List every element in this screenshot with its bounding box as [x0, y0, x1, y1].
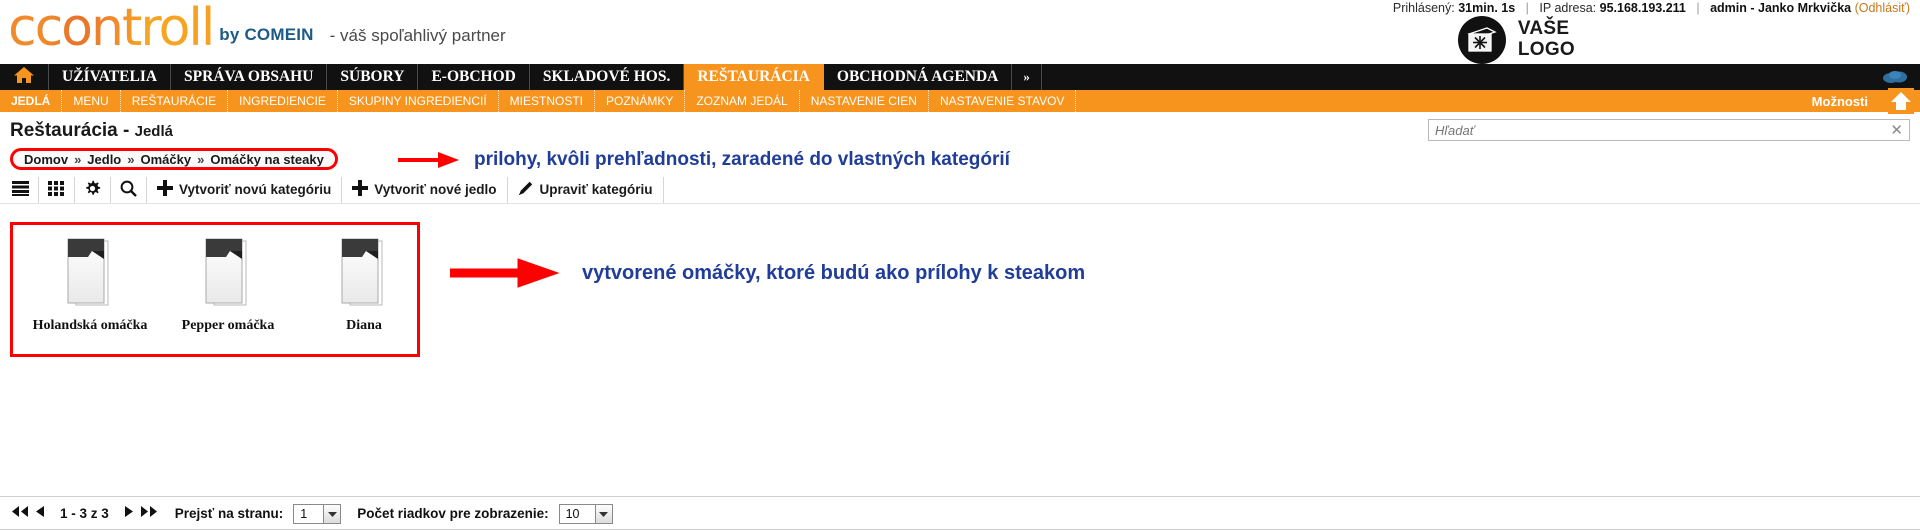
session-logged-label: Prihlásený:	[1393, 1, 1455, 15]
nav-item-skladove-hos[interactable]: SKLADOVÉ HOS.	[530, 64, 684, 90]
page-number-select[interactable]: 1	[293, 504, 341, 524]
annotation-breadcrumb: prilohy, kvôli prehľadnosti, zaradené do…	[398, 149, 1010, 171]
session-info: Prihlásený: 31min. 1s | IP adresa: 95.16…	[1393, 1, 1910, 15]
subnav-item-miestnosti[interactable]: MIESTNOSTI	[499, 90, 595, 112]
search-button[interactable]	[111, 177, 147, 203]
document-icon	[62, 237, 118, 314]
goto-page-label: Prejsť na stranu:	[175, 506, 284, 521]
session-logged-value: 31min. 1s	[1458, 1, 1515, 15]
create-category-button[interactable]: Vytvoriť novú kategóriu	[147, 177, 342, 203]
pagination-controls-right	[123, 504, 159, 524]
list-view-icon	[12, 181, 29, 199]
annotation-breadcrumb-text: prilohy, kvôli prehľadnosti, zaradené do…	[474, 149, 1010, 171]
subnav-item-zoznam-jedal[interactable]: ZOZNAM JEDÁL	[685, 90, 799, 112]
subnav-item-menu[interactable]: MENU	[62, 90, 120, 112]
annotation-files: vytvorené omáčky, ktoré budú ako prílohy…	[450, 256, 1085, 290]
annotation-files-text: vytvorené omáčky, ktoré budú ako prílohy…	[582, 262, 1085, 285]
subnav-item-skupiny-ingrediencii[interactable]: SKUPINY INGREDIENCIÍ	[338, 90, 499, 112]
nav-item-subory[interactable]: SÚBORY	[327, 64, 418, 90]
cloud-icon[interactable]	[1882, 70, 1908, 89]
rows-per-page-value: 10	[566, 507, 580, 521]
brand-logo[interactable]: ccontroll by COMEIN - váš spoľahlivý par…	[8, 2, 506, 54]
breadcrumb-item-omacky[interactable]: Omáčky	[141, 152, 192, 167]
breadcrumb-item-jedlo[interactable]: Jedlo	[87, 152, 121, 167]
search-input[interactable]	[1429, 123, 1884, 138]
pencil-icon	[518, 180, 534, 199]
scroll-to-top-icon[interactable]	[1888, 88, 1914, 114]
content-area: Holandská omáčka Pepper omáčka	[0, 204, 1920, 364]
plus-icon	[157, 180, 173, 199]
arrow-right-icon	[398, 150, 460, 170]
subnav-item-restauracie[interactable]: REŠTAURÁCIE	[121, 90, 228, 112]
sub-navigation: JEDLÁ MENU REŠTAURÁCIE INGREDIENCIE SKUP…	[0, 90, 1920, 112]
close-icon[interactable]: ✕	[1884, 121, 1909, 139]
document-icon	[200, 237, 256, 314]
chevron-down-icon[interactable]	[323, 505, 340, 523]
document-icon	[336, 237, 392, 314]
arrow-right-icon	[450, 256, 560, 290]
chevron-down-icon[interactable]	[595, 505, 612, 523]
session-separator-1: |	[1526, 1, 1529, 15]
list-item[interactable]: Holandská omáčka	[35, 237, 145, 334]
nav-item-obchodna-agenda[interactable]: OBCHODNÁ AGENDA	[824, 64, 1012, 90]
first-page-icon[interactable]	[10, 504, 30, 524]
logout-link[interactable]: (Odhlásiť)	[1855, 1, 1910, 15]
nav-item-e-obchod[interactable]: E-OBCHOD	[418, 64, 529, 90]
main-navigation: UŽÍVATELIA SPRÁVA OBSAHU SÚBORY E-OBCHOD…	[0, 64, 1920, 90]
breadcrumb-item-domov[interactable]: Domov	[24, 152, 68, 167]
create-food-button[interactable]: Vytvoriť nové jedlo	[342, 177, 507, 203]
list-view-button[interactable]	[10, 177, 39, 203]
create-category-label: Vytvoriť novú kategóriu	[179, 182, 331, 197]
nav-home-button[interactable]	[0, 64, 49, 90]
list-item[interactable]: Diana	[311, 237, 417, 334]
session-ip-value: 95.168.193.211	[1600, 1, 1686, 15]
plus-icon	[352, 180, 368, 199]
search-box[interactable]: ✕	[1428, 119, 1910, 141]
customer-logo-line1: VAŠE	[1518, 19, 1575, 40]
grid-view-icon	[48, 181, 65, 199]
page-number-value: 1	[300, 507, 307, 521]
page-title-main: Reštaurácia -	[10, 120, 135, 141]
breadcrumb-separator: »	[74, 152, 81, 167]
list-item-label: Pepper omáčka	[182, 318, 275, 334]
edit-category-button[interactable]: Upraviť kategóriu	[508, 177, 664, 203]
rows-per-page-select[interactable]: 10	[559, 504, 613, 524]
breadcrumb: Domov » Jedlo » Omáčky » Omáčky na steak…	[10, 148, 338, 170]
nav-item-restauracia[interactable]: REŠTAURÁCIA	[684, 64, 824, 90]
page-title-sub: Jedlá	[135, 123, 173, 140]
next-page-icon[interactable]	[123, 504, 136, 524]
nav-filler	[1042, 64, 1920, 90]
photo-icon	[1458, 16, 1506, 64]
prev-page-icon[interactable]	[33, 504, 46, 524]
page-title-row: Reštaurácia - Jedlá ✕	[0, 112, 1920, 148]
nav-item-more[interactable]: »	[1012, 64, 1042, 90]
list-item-label: Diana	[346, 318, 382, 334]
grid-view-button[interactable]	[39, 177, 75, 203]
pagination-range: 1 - 3 z 3	[60, 506, 109, 521]
gear-icon	[84, 180, 101, 200]
list-item-label: Holandská omáčka	[33, 318, 148, 334]
edit-category-label: Upraviť kategóriu	[540, 182, 653, 197]
pagination-controls-left	[10, 504, 46, 524]
subnav-item-nastavenie-cien[interactable]: NASTAVENIE CIEN	[800, 90, 929, 112]
subnav-item-jedla[interactable]: JEDLÁ	[0, 90, 62, 112]
brand-logo-text: ccontroll	[8, 2, 213, 54]
customer-logo: VAŠE LOGO	[1458, 16, 1575, 64]
search-icon	[120, 180, 137, 200]
brand-tagline: - váš spoľahlivý partner	[330, 26, 506, 46]
customer-logo-line2: LOGO	[1518, 40, 1575, 61]
pagination-footer: 1 - 3 z 3 Prejsť na stranu: 1 Počet riad…	[0, 496, 1920, 530]
nav-item-uzivatelia[interactable]: UŽÍVATELIA	[49, 64, 171, 90]
list-item[interactable]: Pepper omáčka	[175, 237, 281, 334]
action-toolbar: Vytvoriť novú kategóriu Vytvoriť nové je…	[0, 176, 1920, 204]
breadcrumb-separator: »	[127, 152, 134, 167]
breadcrumb-separator: »	[197, 152, 204, 167]
rows-per-page-label: Počet riadkov pre zobrazenie:	[357, 506, 548, 521]
session-ip-label: IP adresa:	[1539, 1, 1596, 15]
home-icon	[13, 66, 35, 89]
breadcrumb-row: Domov » Jedlo » Omáčky » Omáčky na steak…	[0, 148, 1920, 176]
subnav-item-ingrediencie[interactable]: INGREDIENCIE	[228, 90, 338, 112]
subnav-filler	[1076, 90, 1811, 112]
nav-item-sprava-obsahu[interactable]: SPRÁVA OBSAHU	[171, 64, 327, 90]
session-separator-2: |	[1696, 1, 1699, 15]
subnav-item-poznamky[interactable]: POZNÁMKY	[595, 90, 685, 112]
settings-button[interactable]	[75, 177, 111, 203]
breadcrumb-item-omacky-na-steaky[interactable]: Omáčky na steaky	[210, 152, 323, 167]
create-food-label: Vytvoriť nové jedlo	[374, 182, 496, 197]
session-user: admin - Janko Mrkvička	[1710, 1, 1851, 15]
subnav-item-nastavenie-stavov[interactable]: NASTAVENIE STAVOV	[929, 90, 1076, 112]
last-page-icon[interactable]	[139, 504, 159, 524]
files-grid: Holandská omáčka Pepper omáčka	[10, 222, 420, 357]
customer-logo-text: VAŠE LOGO	[1518, 19, 1575, 60]
top-header: ccontroll by COMEIN - váš spoľahlivý par…	[0, 0, 1920, 64]
brand-by-comein: by COMEIN	[219, 25, 313, 45]
